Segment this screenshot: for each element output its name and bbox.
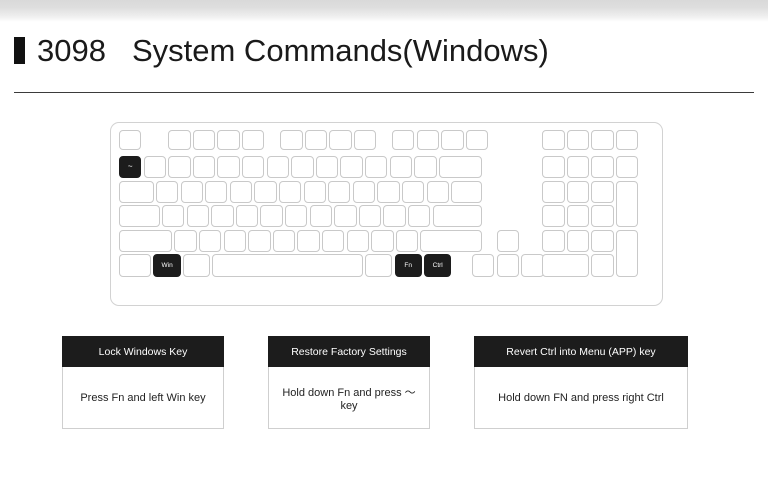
key-letter [248, 230, 270, 252]
key-numpad [542, 156, 564, 178]
key-letter [334, 205, 356, 227]
key-numpad [542, 205, 564, 227]
key-function [392, 130, 414, 150]
page-title: System Commands(Windows) [132, 35, 549, 66]
key-letter [285, 205, 307, 227]
bullet-icon [14, 37, 25, 64]
top-gradient-band [0, 0, 768, 22]
key-capslock [119, 205, 160, 227]
key-number [316, 156, 338, 178]
key-letter [156, 181, 178, 203]
key-numpad-top [591, 130, 613, 150]
key-numpad [591, 156, 613, 178]
key-function [193, 130, 215, 150]
key-backslash [451, 181, 482, 203]
key-arrow-left [472, 254, 494, 276]
key-numpad-top [616, 130, 638, 150]
key-numpad [591, 181, 613, 203]
key-letter [279, 181, 301, 203]
key-function [168, 130, 190, 150]
key-numpad [616, 156, 638, 178]
key-number [340, 156, 362, 178]
key-function [354, 130, 376, 150]
key-letter [187, 205, 209, 227]
key-letter [353, 181, 375, 203]
keyboard-diagram: ~WinFnCtrl [110, 122, 663, 306]
key-number [390, 156, 412, 178]
key-letter [427, 181, 449, 203]
key-numpad [567, 181, 589, 203]
key-letter [310, 205, 332, 227]
key-tilde-highlighted[interactable]: ~ [119, 156, 141, 178]
key-shift-right [420, 230, 482, 252]
key-numpad-top [567, 130, 589, 150]
key-ctrl-highlighted[interactable]: Ctrl [424, 254, 451, 276]
key-letter [224, 230, 246, 252]
key-letter [402, 181, 424, 203]
key-number [144, 156, 166, 178]
key-function [441, 130, 463, 150]
key-win-highlighted[interactable]: Win [153, 254, 180, 276]
key-esc [119, 130, 141, 150]
key-function [305, 130, 327, 150]
command-card: Lock Windows Key Press Fn and left Win k… [62, 336, 224, 432]
key-function [329, 130, 351, 150]
key-number [267, 156, 289, 178]
key-number [414, 156, 436, 178]
key-function [217, 130, 239, 150]
key-letter [230, 181, 252, 203]
key-letter [304, 181, 326, 203]
key-alt-right [365, 254, 392, 276]
key-enter [433, 205, 482, 227]
page-number: 3098 [37, 35, 106, 66]
key-letter [408, 205, 430, 227]
key-letter [174, 230, 196, 252]
card-description: Hold down FN and press right Ctrl [474, 367, 688, 429]
key-letter [371, 230, 393, 252]
card-description: Press Fn and left Win key [62, 367, 224, 429]
key-arrow-down [497, 254, 519, 276]
key-numpad-top [542, 130, 564, 150]
card-description: Hold down Fn and press 〜 key [268, 367, 430, 429]
key-numpad [591, 230, 613, 252]
key-letter [211, 205, 233, 227]
key-letter [359, 205, 381, 227]
card-title: Lock Windows Key [62, 336, 224, 367]
key-number [291, 156, 313, 178]
key-ctrl-left [119, 254, 151, 276]
key-number [365, 156, 387, 178]
key-letter [396, 230, 418, 252]
key-numpad [591, 205, 613, 227]
key-arrow-up [497, 230, 519, 252]
key-function [466, 130, 488, 150]
page-header: 3098 System Commands(Windows) [0, 24, 768, 94]
key-numpad-enter [616, 230, 638, 277]
key-fn-highlighted[interactable]: Fn [395, 254, 422, 276]
key-letter [297, 230, 319, 252]
key-function [280, 130, 302, 150]
command-card: Revert Ctrl into Menu (APP) key Hold dow… [474, 336, 688, 432]
key-letter [383, 205, 405, 227]
key-tab [119, 181, 154, 203]
key-numpad [567, 156, 589, 178]
key-letter [205, 181, 227, 203]
key-numpad [567, 205, 589, 227]
command-card: Restore Factory Settings Hold down Fn an… [268, 336, 430, 432]
key-letter [199, 230, 221, 252]
card-title: Restore Factory Settings [268, 336, 430, 367]
key-space [212, 254, 362, 276]
key-letter [328, 181, 350, 203]
header-divider [14, 92, 754, 93]
key-backspace [439, 156, 482, 178]
key-numpad-dot [591, 254, 613, 276]
key-arrow-right [521, 254, 543, 276]
key-numpad-plus [616, 181, 638, 228]
key-letter [322, 230, 344, 252]
card-title: Revert Ctrl into Menu (APP) key [474, 336, 688, 367]
key-number [242, 156, 264, 178]
key-letter [260, 205, 282, 227]
key-function [417, 130, 439, 150]
key-letter [347, 230, 369, 252]
key-numpad-zero [542, 254, 589, 276]
key-function [242, 130, 264, 150]
key-numpad [567, 230, 589, 252]
key-number [217, 156, 239, 178]
key-number [168, 156, 190, 178]
key-alt-left [183, 254, 210, 276]
key-letter [273, 230, 295, 252]
key-number [193, 156, 215, 178]
key-letter [162, 205, 184, 227]
key-shift-left [119, 230, 172, 252]
command-cards: Lock Windows Key Press Fn and left Win k… [62, 336, 702, 432]
key-letter [236, 205, 258, 227]
key-letter [254, 181, 276, 203]
key-numpad [542, 230, 564, 252]
title-row: 3098 System Commands(Windows) [0, 24, 768, 76]
key-letter [377, 181, 399, 203]
key-letter [181, 181, 203, 203]
key-numpad [542, 181, 564, 203]
